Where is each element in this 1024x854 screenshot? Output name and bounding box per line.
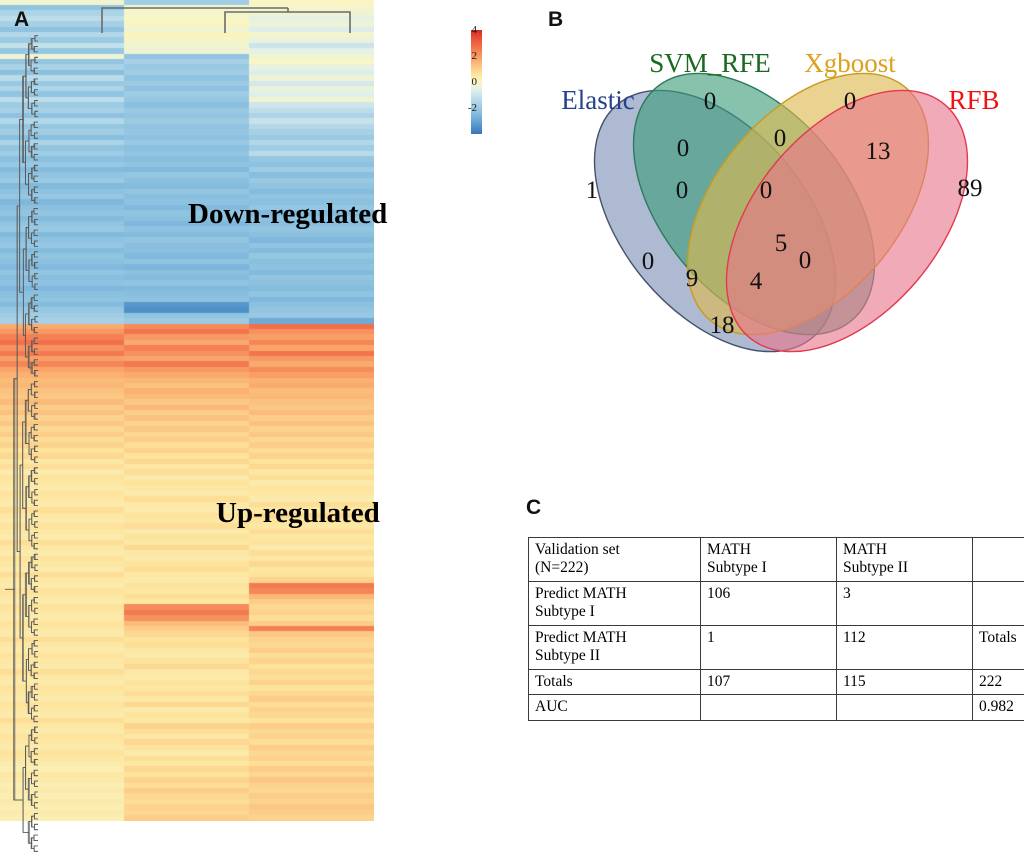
panel-b-label: B [548,8,563,32]
subtype1-line2: Subtype I [707,559,767,576]
table-cell-header-validation: Validation set (N=222) [529,538,701,582]
heatmap-grid [0,0,374,821]
table-row: Totals 107 115 222 [529,670,1024,695]
subtype1-line1: MATH [707,541,751,558]
subtype2-line1: MATH [843,541,887,558]
venn-label-elastic: Elastic [561,85,634,115]
confusion-matrix-table: Validation set (N=222) MATH Subtype I MA… [528,537,1024,721]
table-cell-total-subtype2: 115 [837,670,973,695]
venn-count-elastic-svm-xgboost: 0 [676,177,689,204]
table-cell-total-subtype1: 107 [701,670,837,695]
column-dendrogram [38,2,412,33]
up-regulated-label: Up-regulated [216,497,380,530]
table-cell-predict-subtype1: Predict MATH Subtype I [529,582,701,626]
table-cell-false-positive: 3 [837,582,973,626]
predict2-line1: Predict MATH [535,629,627,646]
table-cell-grand-total: 222 [973,670,1024,695]
colorbar-tick-2: 0 [453,76,477,88]
table-cell-row1-blank [973,582,1024,626]
panel-c-label: C [526,496,541,520]
table-cell-auc-blank2 [837,695,973,720]
colorbar-tick-3: -2 [453,102,477,114]
table-cell-header-blank [973,538,1024,582]
venn-count-elastic-xgboost-rfb: 9 [686,265,699,292]
venn-count-elastic-xgboost: 0 [642,248,655,275]
table-cell-true-positive: 106 [701,582,837,626]
venn-label-rfb: RFB [948,85,999,115]
table-cell-auc-blank1 [701,695,837,720]
venn-count-svm-rfb: 0 [799,247,812,274]
panel-c-table: C Validation set (N=222) MATH Subtype I … [512,496,1024,816]
colorbar-tick-0: 4 [453,24,477,36]
venn-count-svm-rfb-mid: 4 [750,268,763,295]
table-cell-totals-label: Totals [529,670,701,695]
table-cell-auc-value: 0.982 [973,695,1024,720]
predict1-line1: Predict MATH [535,585,627,602]
table-cell-predict-subtype2: Predict MATH Subtype II [529,626,701,670]
venn-label-svm-rfe: SVM_RFE [649,48,771,78]
table-row: AUC 0.982 [529,695,1024,720]
table-row: Validation set (N=222) MATH Subtype I MA… [529,538,1024,582]
venn-count-elastic-rfb: 18 [710,312,735,339]
subtype2-line2: Subtype II [843,559,908,576]
table-row: Predict MATH Subtype II 1 112 Totals [529,626,1024,670]
venn-count-xgboost-rfb: 13 [866,138,891,165]
venn-count-rfb-only: 89 [958,175,983,202]
table-cell-header-subtype1: MATH Subtype I [701,538,837,582]
predict2-line2: Subtype II [535,647,600,664]
row-dendrogram [3,33,38,854]
table-cell-false-negative: 1 [701,626,837,670]
venn-count-svm-xgboost-rfb: 0 [760,177,773,204]
table-cell-auc-label: AUC [529,695,701,720]
down-regulated-label: Down-regulated [188,198,387,231]
table-row: Predict MATH Subtype I 106 3 [529,582,1024,626]
validation-set-line1: Validation set [535,541,620,558]
venn-count-all-four: 5 [775,230,788,257]
validation-set-line2: (N=222) [535,559,589,576]
venn-count-svm-xgboost: 0 [774,125,787,152]
venn-count-elastic-only: 1 [586,177,599,204]
table-cell-true-negative: 112 [837,626,973,670]
colorbar: 4 2 0 -2 [443,26,513,141]
table-cell-totals-header: Totals [973,626,1024,670]
panel-a-label: A [14,8,29,32]
venn-label-xgboost: Xgboost [804,48,896,78]
panel-b-venn: B Elastic SVM_RFE Xgboost RFB 0 0 0 0 13… [540,8,1024,388]
venn-count-elastic-svm: 0 [677,135,690,162]
venn-diagram: Elastic SVM_RFE Xgboost RFB 0 0 0 0 13 1… [540,46,1024,386]
table-cell-header-subtype2: MATH Subtype II [837,538,973,582]
panel-a-heatmap: A Down-regulated Up-regulated 4 2 0 -2 [0,0,500,854]
predict1-line2: Subtype I [535,603,595,620]
venn-count-xgboost-only: 0 [844,88,857,115]
venn-count-svm-only: 0 [704,88,717,115]
colorbar-tick-1: 2 [453,50,477,62]
